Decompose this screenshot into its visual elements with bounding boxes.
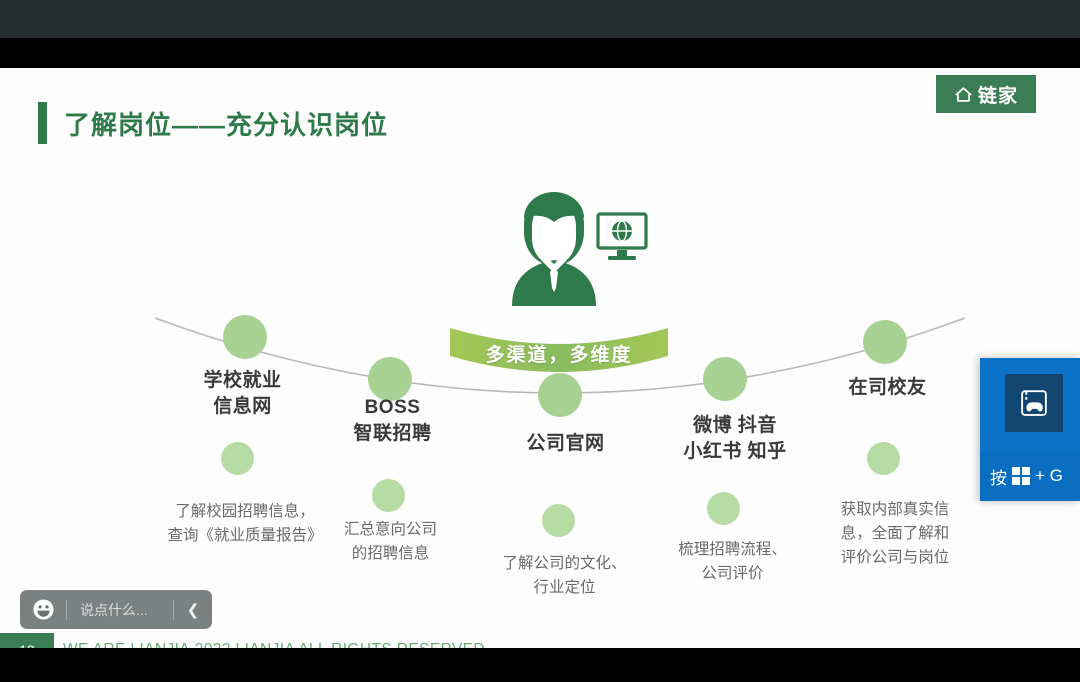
hero-banner: 多渠道，多维度 — [450, 326, 668, 378]
chevron-left-icon[interactable]: ❮ — [174, 601, 212, 619]
node-dot-3 — [538, 373, 582, 417]
house-icon — [954, 85, 973, 104]
page-title: 了解岗位——充分认识岗位 — [64, 105, 388, 142]
title-accent-bar — [38, 102, 47, 144]
comment-input[interactable]: 说点什么... — [67, 600, 173, 620]
game-controller-icon — [1005, 374, 1063, 432]
node-dot-5 — [863, 320, 907, 364]
comment-bar[interactable]: 说点什么... ❮ — [20, 590, 212, 629]
node-subdot-1 — [221, 442, 254, 475]
page-number-badge: 13 — [0, 633, 54, 648]
smiley-face-icon[interactable] — [20, 598, 66, 621]
node-subdot-4 — [707, 492, 740, 525]
node-subdot-5 — [867, 442, 900, 475]
footer-copyright: WE ARE LIANJIA,2022 LIANJIA ALL RIGHTS R… — [63, 641, 485, 649]
gamebar-hint-suffix: + G — [1035, 466, 1063, 486]
slide-canvas: 了解岗位——充分认识岗位 链家 — [0, 68, 1080, 648]
player-top-bar — [0, 0, 1080, 38]
brand-name: 链家 — [978, 81, 1018, 108]
node-title-1: 学校就业 信息网 — [155, 368, 330, 420]
brand-logo: 链家 — [936, 75, 1036, 113]
node-title-3: 公司官网 — [478, 431, 653, 457]
hero-banner-text: 多渠道，多维度 — [450, 340, 668, 367]
node-title-2: BOSS 智联招聘 — [305, 395, 480, 447]
gamebar-hint-prefix: 按 — [990, 464, 1007, 489]
gamebar-hint: 按 + G — [980, 451, 1080, 501]
node-subdot-2 — [372, 479, 405, 512]
node-dot-4 — [703, 357, 747, 401]
businessman-with-monitor-icon — [472, 188, 652, 308]
player-letterbox-bottom — [0, 648, 1080, 682]
node-desc-5: 获取内部真实信 息，全面了解和 评价公司与岗位 — [805, 498, 985, 570]
node-title-4: 微博 抖音 小红书 知乎 — [640, 413, 830, 465]
node-subdot-3 — [542, 504, 575, 537]
node-dot-1 — [223, 315, 267, 359]
slide-footer: 13 WE ARE LIANJIA,2022 LIANJIA ALL RIGHT… — [0, 633, 1080, 648]
player-letterbox-top — [0, 38, 1080, 68]
gamebar-toast[interactable]: 按 + G — [980, 358, 1080, 501]
slide-title-block: 了解岗位——充分认识岗位 — [38, 102, 388, 144]
windows-logo-key-icon — [1012, 467, 1030, 485]
node-title-5: 在司校友 — [800, 375, 975, 401]
